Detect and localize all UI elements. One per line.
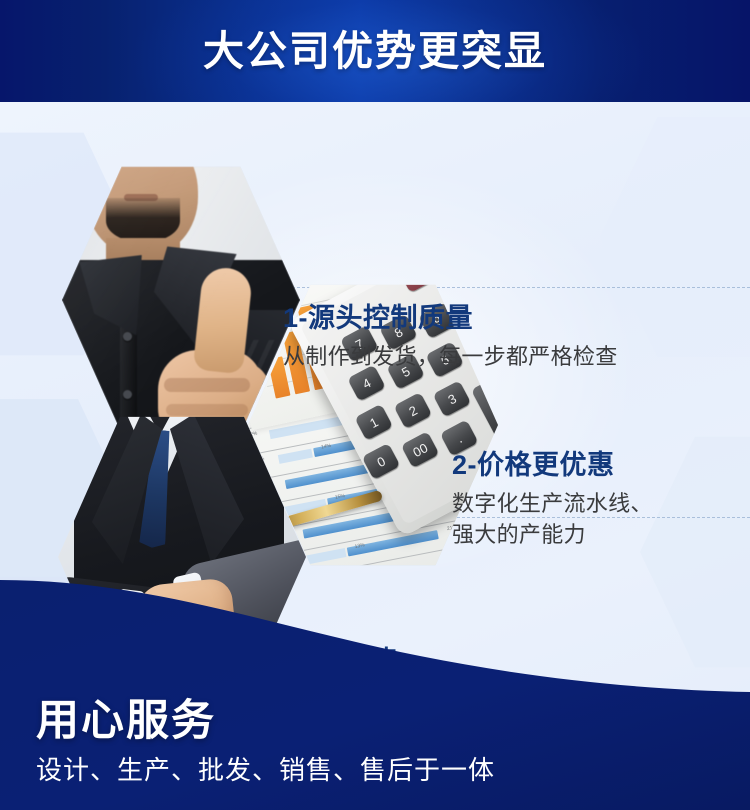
- feature-title: 1-源头控制质量: [283, 300, 618, 336]
- feature-description-line1: 数字化生产流水线、: [452, 488, 653, 519]
- footer-text-block: 用心服务 设计、生产、批发、销售、售后于一体: [36, 694, 495, 788]
- banner-header: 大公司优势更突显: [0, 0, 750, 102]
- page-title: 大公司优势更突显: [0, 24, 750, 78]
- feature-title: 2-价格更优惠: [452, 447, 653, 483]
- banner-footer: 用心服务 设计、生产、批发、销售、售后于一体: [0, 580, 750, 810]
- feature-item-quality: 1-源头控制质量 从制作到发货，每一步都严格检查: [283, 300, 618, 372]
- feature-description-line2: 强大的产能力: [452, 519, 653, 550]
- feature-item-price: 2-价格更优惠 数字化生产流水线、 强大的产能力: [452, 447, 653, 550]
- feature-description: 从制作到发货，每一步都严格检查: [283, 341, 618, 372]
- decorative-hexagon-icon: [600, 112, 750, 362]
- promo-banner: 大公司优势更突显: [0, 0, 750, 810]
- footer-title: 用心服务: [36, 694, 495, 748]
- footer-subtitle: 设计、生产、批发、销售、售后于一体: [36, 752, 495, 788]
